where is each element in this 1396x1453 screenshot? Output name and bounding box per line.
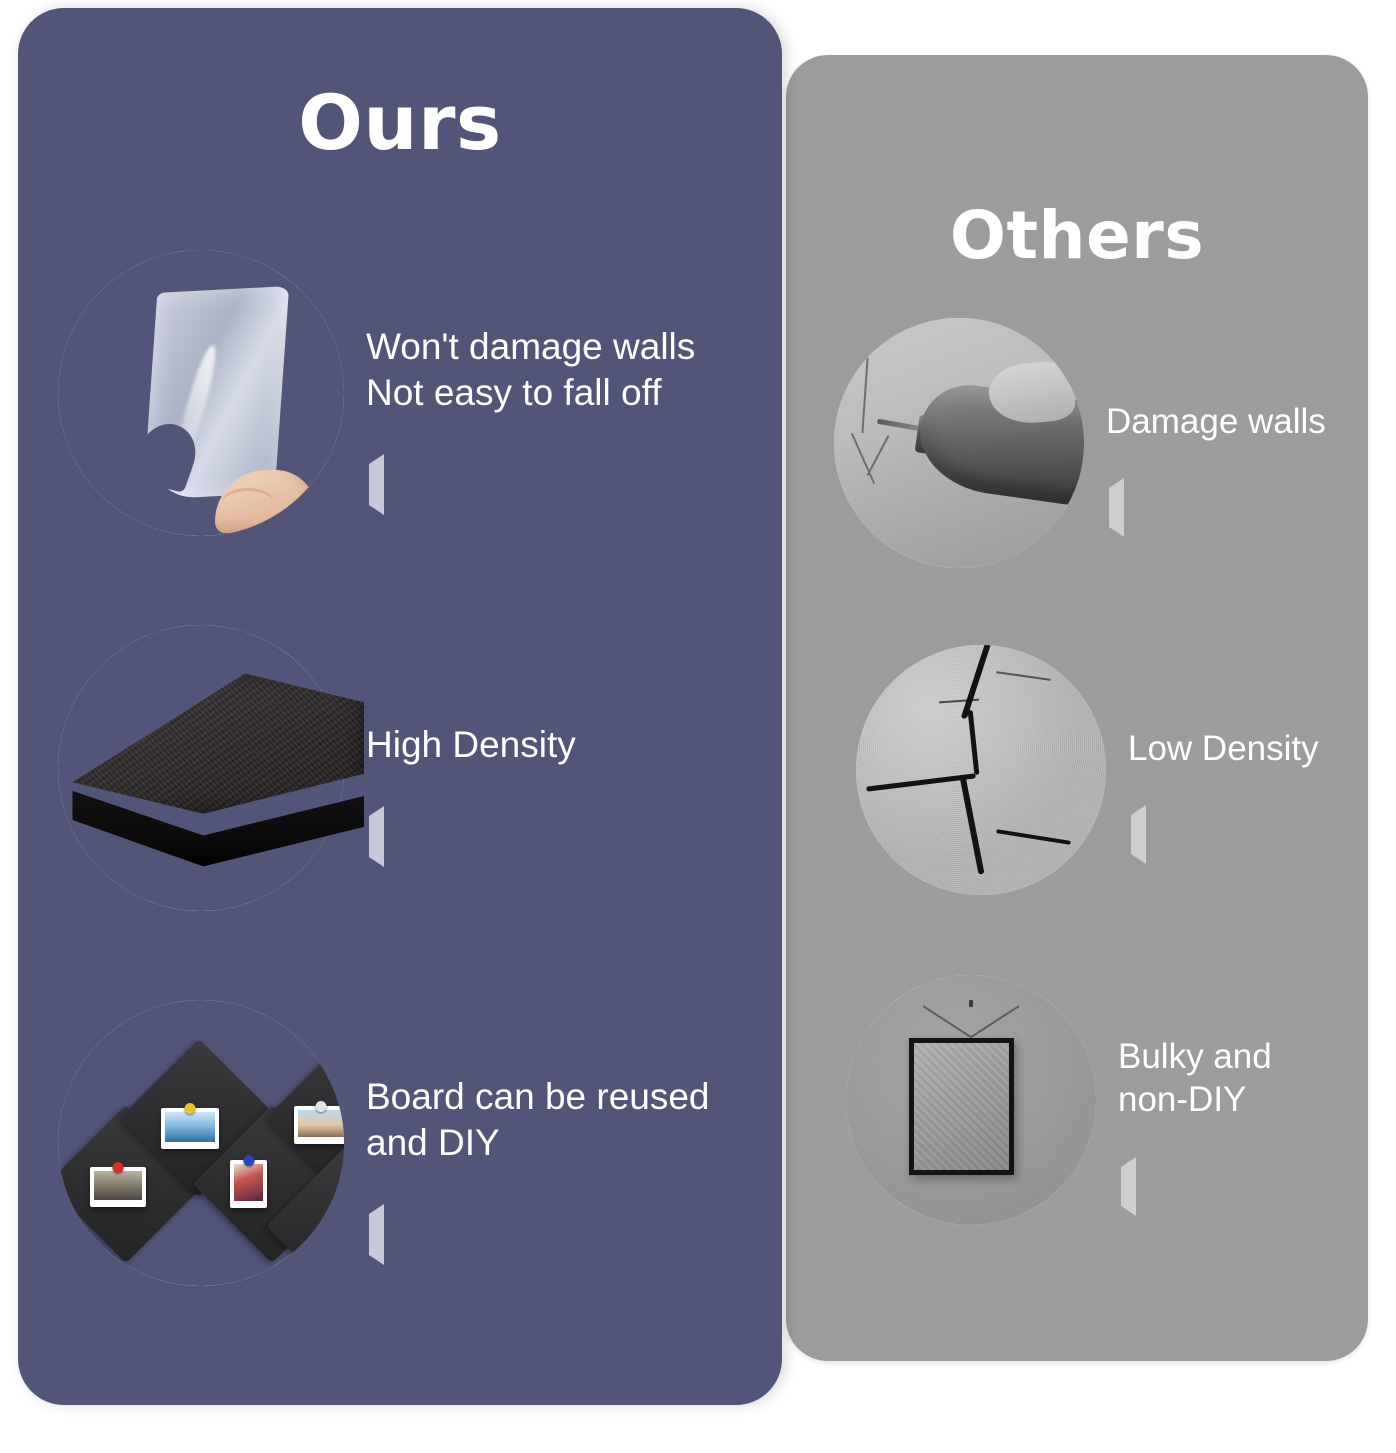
ours-panel-title: Ours xyxy=(18,78,782,167)
others-feature-text-block: Low Density xyxy=(1128,683,1396,857)
power-drill-boring-into-wall-image xyxy=(834,318,1084,568)
others-feature-row-damage-walls: Damage walls xyxy=(834,318,1396,568)
ours-feature-caption: Board can be reused and DIY xyxy=(366,1074,756,1166)
cracked-concrete-wall-image xyxy=(856,645,1106,895)
ours-feature-caption: Won't damage walls Not easy to fall off xyxy=(366,324,756,416)
comparison-infographic: Others Damage walls xyxy=(0,0,1396,1453)
adhesive-strip-held-by-thumb-image xyxy=(58,250,344,536)
others-feature-text-block: Damage walls xyxy=(1106,356,1396,530)
bulky-framed-board-hanging-on-nail-image xyxy=(846,975,1096,1225)
others-feature-row-bulky-non-diy: Bulky and non-DIY xyxy=(846,975,1396,1225)
ours-feature-caption: High Density xyxy=(366,722,756,768)
others-feature-caption: Low Density xyxy=(1128,727,1396,770)
left-triangle-marker-icon xyxy=(1131,805,1146,864)
pinned-photo xyxy=(90,1167,146,1207)
others-feature-text-block: Bulky and non-DIY xyxy=(1118,992,1396,1209)
pinned-photo xyxy=(230,1160,267,1208)
ours-feature-text-block: Board can be reused and DIY xyxy=(366,1028,756,1257)
ours-feature-row-wont-damage-walls: Won't damage walls Not easy to fall off xyxy=(58,250,756,536)
others-panel-title: Others xyxy=(786,197,1368,274)
ours-feature-text-block: High Density xyxy=(366,676,756,860)
ours-feature-text-block: Won't damage walls Not easy to fall off xyxy=(366,278,756,507)
pinned-photo xyxy=(161,1108,219,1149)
others-feature-row-low-density: Low Density xyxy=(856,645,1396,895)
left-triangle-marker-icon xyxy=(1109,478,1124,537)
left-triangle-marker-icon xyxy=(369,454,384,515)
ours-feature-row-reusable-diy: Board can be reused and DIY xyxy=(58,1000,756,1286)
ours-feature-row-high-density: High Density xyxy=(58,625,756,911)
ours-panel: Ours Won't damage walls Not easy to fall… xyxy=(18,8,782,1405)
pinned-photo xyxy=(294,1106,344,1144)
others-feature-caption: Bulky and non-DIY xyxy=(1118,1035,1396,1122)
others-panel: Others Damage walls xyxy=(786,55,1368,1361)
left-triangle-marker-icon xyxy=(1121,1157,1136,1216)
felt-diamond-board-with-pinned-photos-image xyxy=(58,1000,344,1286)
left-triangle-marker-icon xyxy=(369,806,384,867)
left-triangle-marker-icon xyxy=(369,1204,384,1265)
high-density-foam-board-corner-image xyxy=(58,625,344,911)
others-feature-caption: Damage walls xyxy=(1106,400,1396,443)
